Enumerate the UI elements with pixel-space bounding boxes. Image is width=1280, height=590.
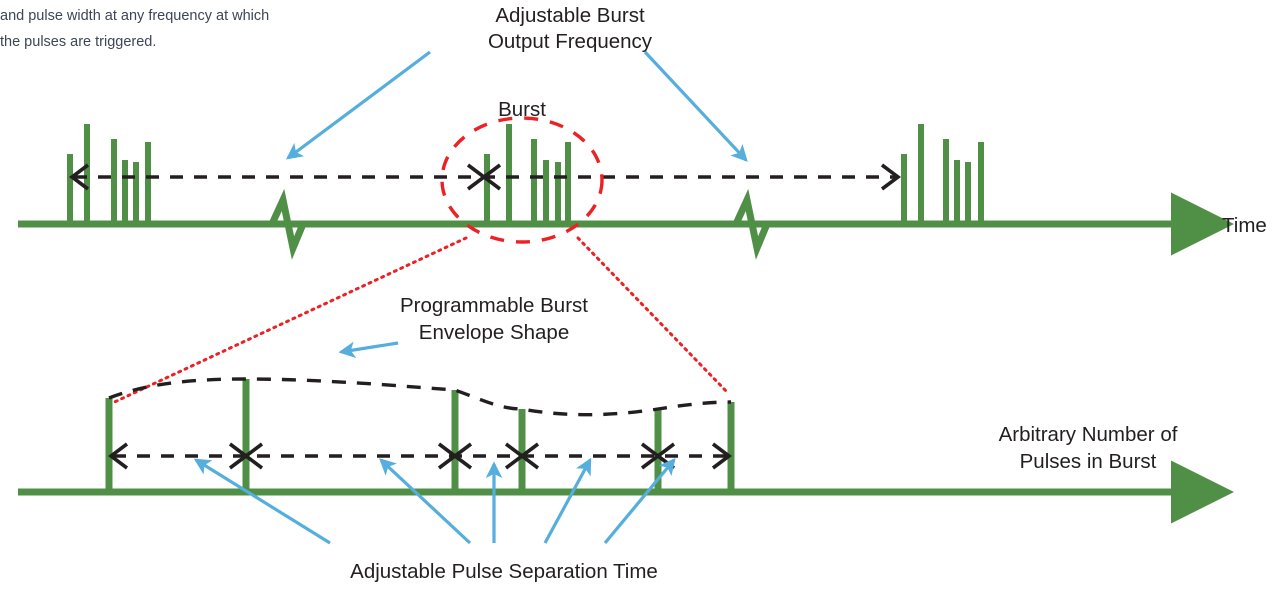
label-time-axis: Time [1222,214,1267,237]
burst-group-left [70,124,148,224]
burst-group-center [487,124,568,224]
arrow-separation-5 [605,460,674,543]
label-burst: Burst [498,98,546,121]
burst-group-right [904,124,981,224]
break-symbol-left [262,200,316,248]
burst-envelope-curve [109,379,731,415]
arrow-separation-4 [545,460,590,543]
upper-timeline [18,118,1178,248]
arrow-separation-1 [196,460,330,543]
label-pulse-separation: Adjustable Pulse Separation Time [350,560,658,583]
arrow-frequency-right [645,52,746,160]
arrow-frequency-left [288,52,430,158]
label-burst-frequency-line1: Adjustable Burst [495,4,645,27]
burst-timing-diagram: Adjustable Burst Output Frequency Burst … [0,0,1280,590]
label-arbitrary-line1: Arbitrary Number of [999,423,1178,446]
lower-burst-pulses [109,379,731,492]
label-envelope-line1: Programmable Burst [400,294,588,317]
break-symbol-right [726,200,780,248]
zoom-connectors [106,238,727,406]
arrow-envelope [341,343,398,352]
label-arbitrary-line2: Pulses in Burst [1020,450,1157,473]
label-envelope-line2: Envelope Shape [419,321,569,344]
red-connector-right [578,238,727,392]
diagram-canvas: and pulse width at any frequency at whic… [0,0,1280,590]
label-burst-frequency-line2: Output Frequency [488,30,653,53]
